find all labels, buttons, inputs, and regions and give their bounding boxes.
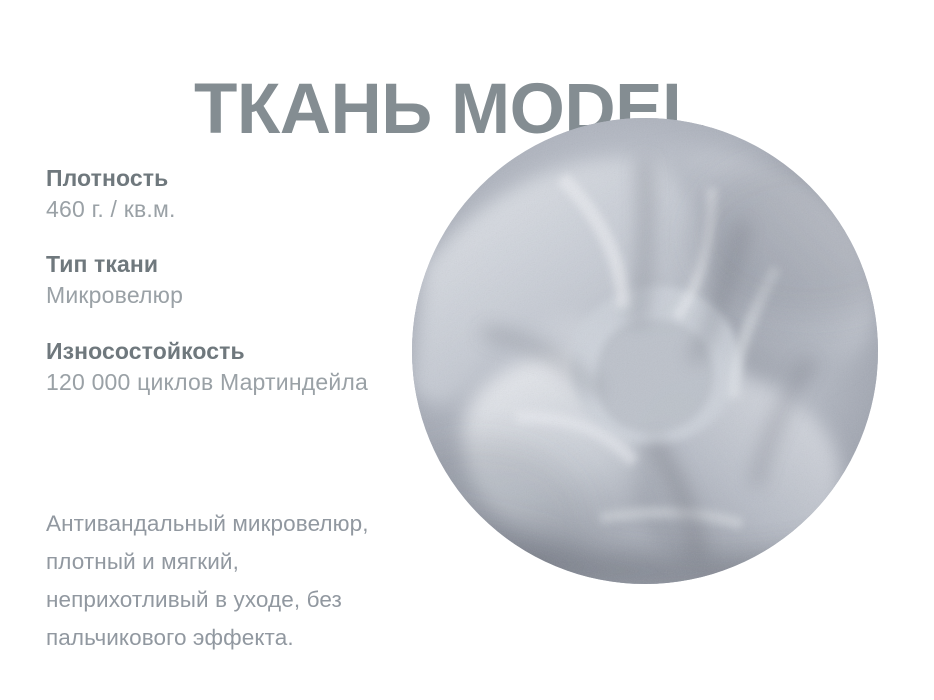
spec-item-density: Плотность 460 г. / кв.м. xyxy=(46,164,386,224)
spec-label: Тип ткани xyxy=(46,250,386,280)
fabric-swatch-photo xyxy=(412,118,878,584)
spec-value: 460 г. / кв.м. xyxy=(46,194,386,225)
spec-item-wear-resistance: Износостойкость 120 000 циклов Мартиндей… xyxy=(46,337,386,397)
description-line: пальчикового эффекта. xyxy=(46,619,446,657)
description-line: Антивандальный микровелюр, xyxy=(46,505,446,543)
spec-value: 120 000 циклов Мартиндейла xyxy=(46,367,386,398)
fabric-spec-card: ТКАНЬ MODEL Плотность 460 г. / кв.м. Тип… xyxy=(0,0,934,700)
description-text: Антивандальный микровелюр, плотный и мяг… xyxy=(46,505,446,657)
spec-item-fabric-type: Тип ткани Микровелюр xyxy=(46,250,386,310)
description-line: неприхотливый в уходе, без xyxy=(46,581,446,619)
spec-label: Износостойкость xyxy=(46,337,386,367)
spec-list: Плотность 460 г. / кв.м. Тип ткани Микро… xyxy=(46,164,386,397)
spec-value: Микровелюр xyxy=(46,280,386,311)
description-line: плотный и мягкий, xyxy=(46,543,446,581)
spec-label: Плотность xyxy=(46,164,386,194)
